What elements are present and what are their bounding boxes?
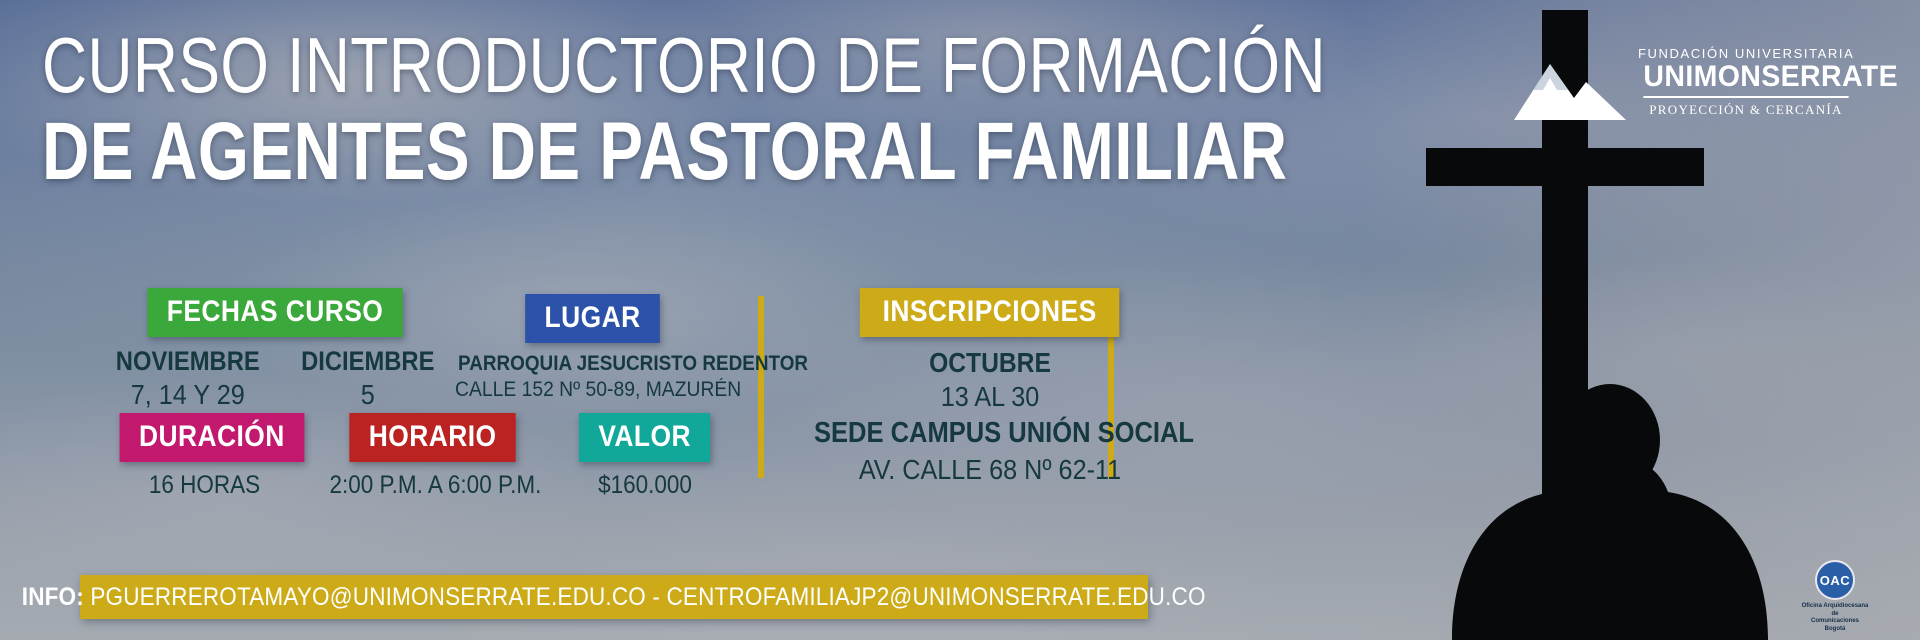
month-december: DICIEMBRE [301,347,434,376]
page-title: CURSO INTRODUCTORIO DE FORMACIÓN DE AGEN… [42,28,1172,193]
info-emails[interactable]: PGUERREROTAMAYO@UNIMONSERRATE.EDU.CO - C… [91,583,1206,611]
oac-caption: Oficina Arquidiocesana de Comunicaciones… [1800,603,1870,633]
logo-mountain-icon [1510,48,1630,128]
unimonserrate-logo: FUNDACIÓN UNIVERSITARIA UNIMONSERRATE PR… [1510,40,1850,145]
price-block: VALOR $160.000 [560,413,730,499]
badge-inscripciones: INSCRIPCIONES [860,288,1120,337]
badge-lugar: LUGAR [526,294,661,343]
registration-block: INSCRIPCIONES OCTUBRE 13 AL 30 SEDE CAMP… [790,288,1190,485]
promotional-banner: CURSO INTRODUCTORIO DE FORMACIÓN DE AGEN… [0,0,1920,640]
oac-seal: OAC Oficina Arquidiocesana de Comunicaci… [1800,560,1870,630]
oac-line-2: Comunicaciones [1800,618,1870,626]
contact-info-bar: INFO: PGUERREROTAMAYO@UNIMONSERRATE.EDU.… [80,575,1148,619]
dates-column-november: NOVIEMBRE 7, 14 Y 29 [106,347,270,410]
details-section: FECHAS CURSO NOVIEMBRE 7, 14 Y 29 DICIEM… [0,288,1400,588]
venue-address: CALLE 152 Nº 50-89, MAZURÉN [455,379,731,402]
venue-name: PARROQUIA JESUCRISTO REDENTOR [458,353,728,376]
dates-column-december: DICIEMBRE 5 [292,347,444,410]
schedule-value: 2:00 P.M. A 6:00 P.M. [330,472,537,499]
info-label: INFO: [22,583,84,611]
badge-duracion: DURACIÓN [120,413,305,462]
badge-valor: VALOR [579,413,710,462]
logo-wordmark: FUNDACIÓN UNIVERSITARIA UNIMONSERRATE PR… [1638,46,1854,118]
days-november: 7, 14 Y 29 [115,380,262,410]
duration-block: DURACIÓN 16 HORAS [107,413,302,499]
registration-address: AV. CALLE 68 Nº 62-11 [810,455,1170,485]
registration-range: 13 AL 30 [810,382,1170,412]
registration-month: OCTUBRE [814,348,1166,378]
contact-info-text: INFO: PGUERREROTAMAYO@UNIMONSERRATE.EDU.… [22,583,1206,612]
course-dates-block: FECHAS CURSO NOVIEMBRE 7, 14 Y 29 DICIEM… [120,288,430,410]
logo-top-line: FUNDACIÓN UNIVERSITARIA [1638,46,1854,61]
duration-value: 16 HORAS [117,472,293,499]
logo-main-name: UNIMONSERRATE [1643,61,1848,98]
schedule-block: HORARIO 2:00 P.M. A 6:00 P.M. [318,413,548,499]
price-value: $160.000 [569,472,722,499]
days-december: 5 [300,380,436,410]
month-november: NOVIEMBRE [116,347,260,376]
oac-line-1: Oficina Arquidiocesana de [1800,603,1870,618]
headline-line-1: CURSO INTRODUCTORIO DE FORMACIÓN [42,28,946,103]
headline-line-2: DE AGENTES DE PASTORAL FAMILIAR [42,111,946,193]
logo-tagline: PROYECCIÓN & CERCANÍA [1638,102,1854,118]
badge-horario: HORARIO [350,413,516,462]
oac-acronym: OAC [1815,560,1855,600]
divider-left [758,296,764,478]
registration-venue: SEDE CAMPUS UNIÓN SOCIAL [814,418,1166,449]
oac-line-3: Bogotá [1800,626,1870,634]
venue-block: LUGAR PARROQUIA JESUCRISTO REDENTOR CALL… [443,294,743,401]
badge-fechas-curso: FECHAS CURSO [147,288,402,337]
